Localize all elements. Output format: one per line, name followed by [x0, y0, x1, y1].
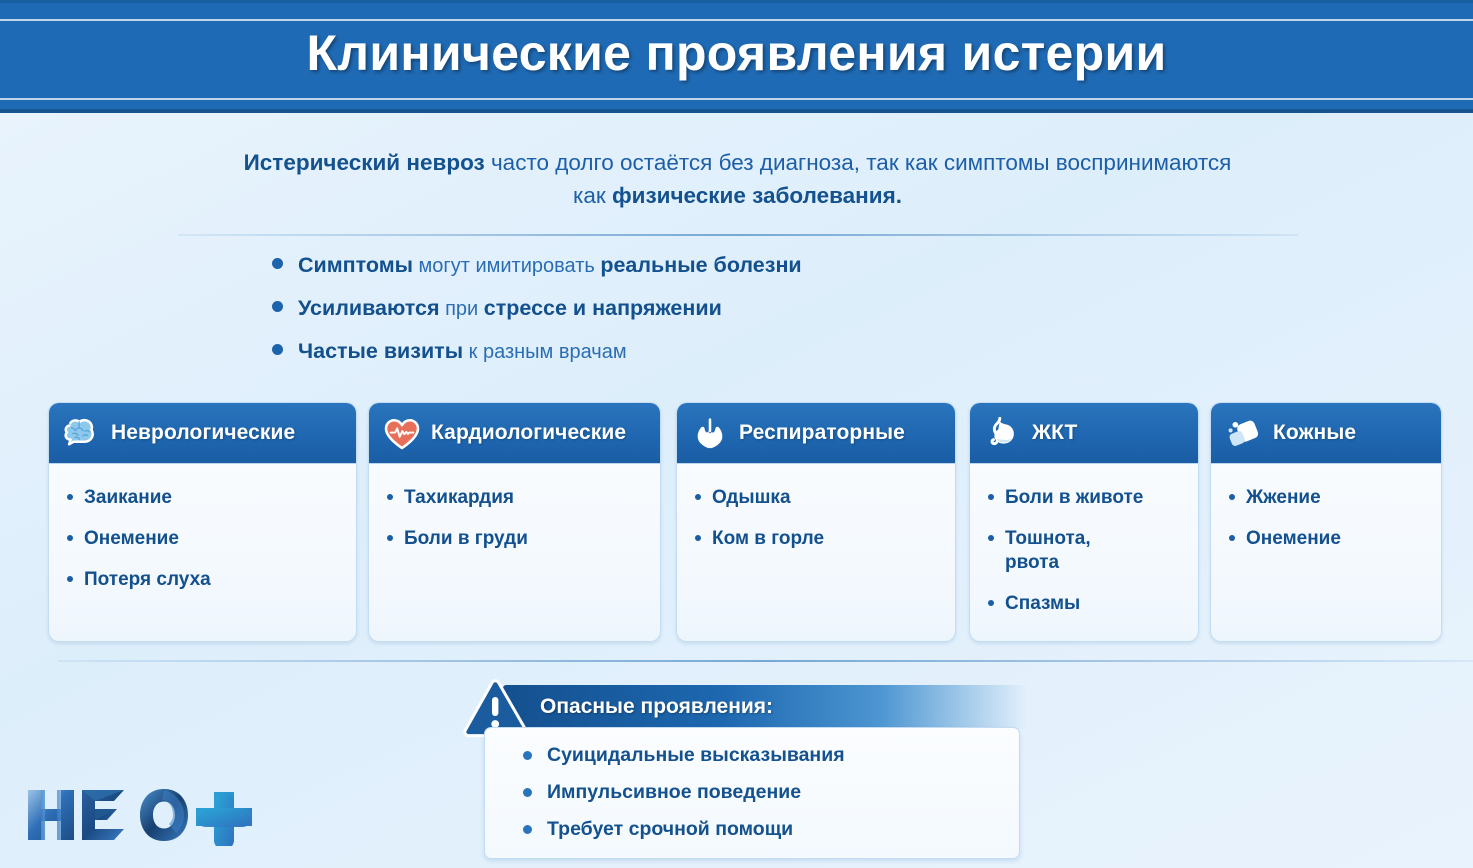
card-body: Жжение Онемение: [1211, 464, 1441, 551]
stomach-icon: [980, 410, 1026, 456]
card-respiratory: Респираторные Одышка Ком в горле: [676, 402, 956, 642]
bullet-dot-icon: [695, 535, 701, 541]
danger-callout-header: Опасные проявления:: [503, 685, 1028, 729]
list-item: Частые визиты к разным врачам: [272, 338, 802, 365]
bullet-dot-icon: [523, 788, 532, 797]
card-title: Неврологические: [111, 421, 295, 445]
key-point-lead: Симптомы: [298, 253, 413, 277]
bullet-dot-icon: [272, 344, 283, 355]
key-point-text: Симптомы могут имитировать реальные боле…: [298, 252, 802, 279]
danger-callout: Опасные проявления: Суицидальные высказы…: [463, 673, 1028, 868]
key-point-tail: стрессе и напряжении: [484, 296, 722, 320]
list-item: Тошнота, рвота: [988, 527, 1198, 575]
card-neurological: Неврологические Заикание Онемение Потеря…: [48, 402, 357, 642]
list-item: Суицидальные высказывания: [523, 744, 1019, 767]
list-item: Спазмы: [988, 592, 1198, 616]
lungs-icon: [687, 410, 733, 456]
card-item-label: Тахикардия: [404, 486, 514, 510]
card-title: Респираторные: [739, 421, 905, 445]
key-point-mid: к разным врачам: [463, 341, 627, 363]
danger-item-label: Суицидальные высказывания: [547, 744, 845, 767]
header-rule-bottom: [0, 98, 1473, 100]
danger-item-label: Требует срочной помощи: [547, 818, 793, 841]
list-item: Симптомы могут имитировать реальные боле…: [272, 252, 802, 279]
card-cardiological: Кардиологические Тахикардия Боли в груди: [368, 402, 661, 642]
list-item: Импульсивное поведение: [523, 781, 1019, 804]
card-header: ЖКТ: [970, 403, 1198, 464]
card-item-label: Боли в груди: [404, 527, 528, 551]
bullet-dot-icon: [988, 600, 994, 606]
danger-callout-title: Опасные проявления:: [540, 695, 773, 719]
page-header-band: Клинические проявления истерии: [0, 0, 1473, 113]
key-point-mid: могут имитировать: [413, 255, 600, 277]
list-item: Требует срочной помощи: [523, 818, 1019, 841]
infographic-page: Клинические проявления истерии Истеричес…: [0, 0, 1473, 868]
bullet-dot-icon: [988, 494, 994, 500]
card-header: Неврологические: [49, 403, 356, 464]
card-title: Кожные: [1273, 421, 1356, 445]
bullet-dot-icon: [1229, 535, 1235, 541]
card-title: ЖКТ: [1032, 421, 1077, 445]
card-item-label: Одышка: [712, 486, 791, 510]
list-item: Потеря слуха: [67, 568, 356, 592]
heart-ecg-icon: [379, 410, 425, 456]
skin-patch-icon: [1221, 410, 1267, 456]
key-point-text: Усиливаются при стрессе и напряжении: [298, 295, 722, 322]
list-item: Боли в животе: [988, 486, 1198, 510]
intro-line2-pre: как: [573, 183, 612, 208]
card-header: Респираторные: [677, 403, 955, 464]
list-item: Онемение: [67, 527, 356, 551]
list-item: Онемение: [1229, 527, 1441, 551]
intro-line1-rest: часто долго остаётся без диагноза, так к…: [485, 150, 1232, 175]
brain-icon: [59, 410, 105, 456]
divider-top: [178, 234, 1298, 236]
card-item-label: Онемение: [84, 527, 179, 551]
key-point-lead: Усиливаются: [298, 296, 440, 320]
list-item: Усиливаются при стрессе и напряжении: [272, 295, 802, 322]
card-title: Кардиологические: [431, 421, 626, 445]
card-body: Одышка Ком в горле: [677, 464, 955, 551]
key-point-mid: при: [440, 298, 484, 320]
page-title: Клинические проявления истерии: [0, 24, 1473, 82]
bullet-dot-icon: [1229, 494, 1235, 500]
card-item-label: Спазмы: [1005, 592, 1080, 616]
bullet-dot-icon: [387, 535, 393, 541]
danger-callout-body: Суицидальные высказывания Импульсивное п…: [484, 727, 1020, 859]
card-item-label: Жжение: [1246, 486, 1321, 510]
intro-paragraph: Истерический невроз часто долго остаётся…: [150, 146, 1325, 212]
key-point-tail: реальные болезни: [600, 253, 801, 277]
bullet-dot-icon: [523, 825, 532, 834]
bullet-dot-icon: [67, 576, 73, 582]
bullet-dot-icon: [387, 494, 393, 500]
list-item: Ком в горле: [695, 527, 955, 551]
danger-item-label: Импульсивное поведение: [547, 781, 801, 804]
bullet-dot-icon: [272, 301, 283, 312]
header-rule-top: [0, 19, 1473, 21]
intro-bold-term: Истерический невроз: [244, 150, 485, 175]
list-item: Тахикардия: [387, 486, 660, 510]
card-body: Тахикардия Боли в груди: [369, 464, 660, 551]
card-body: Боли в животе Тошнота, рвота Спазмы: [970, 464, 1198, 616]
bullet-dot-icon: [272, 258, 283, 269]
bullet-dot-icon: [523, 751, 532, 760]
bullet-dot-icon: [695, 494, 701, 500]
card-body: Заикание Онемение Потеря слуха: [49, 464, 356, 592]
key-point-text: Частые визиты к разным врачам: [298, 338, 627, 365]
list-item: Заикание: [67, 486, 356, 510]
card-header: Кардиологические: [369, 403, 660, 464]
card-gastrointestinal: ЖКТ Боли в животе Тошнота, рвота Спазмы: [969, 402, 1199, 642]
intro-line2-bold: физические заболевания.: [612, 183, 902, 208]
key-points-list: Симптомы могут имитировать реальные боле…: [272, 252, 802, 381]
bullet-dot-icon: [988, 535, 994, 541]
bullet-dot-icon: [67, 494, 73, 500]
card-item-label: Ком в горле: [712, 527, 824, 551]
list-item: Боли в груди: [387, 527, 660, 551]
divider-bottom: [58, 660, 1473, 662]
symptom-cards-row: Неврологические Заикание Онемение Потеря…: [0, 402, 1473, 642]
card-item-label: Потеря слуха: [84, 568, 211, 592]
card-item-label: Боли в животе: [1005, 486, 1143, 510]
bullet-dot-icon: [67, 535, 73, 541]
card-item-label: Тошнота, рвота: [1005, 527, 1091, 575]
key-point-lead: Частые визиты: [298, 339, 463, 363]
card-item-label: Заикание: [84, 486, 172, 510]
neo-plus-logo: [24, 784, 254, 846]
card-item-label: Онемение: [1246, 527, 1341, 551]
list-item: Одышка: [695, 486, 955, 510]
card-dermatological: Кожные Жжение Онемение: [1210, 402, 1442, 642]
list-item: Жжение: [1229, 486, 1441, 510]
card-header: Кожные: [1211, 403, 1441, 464]
